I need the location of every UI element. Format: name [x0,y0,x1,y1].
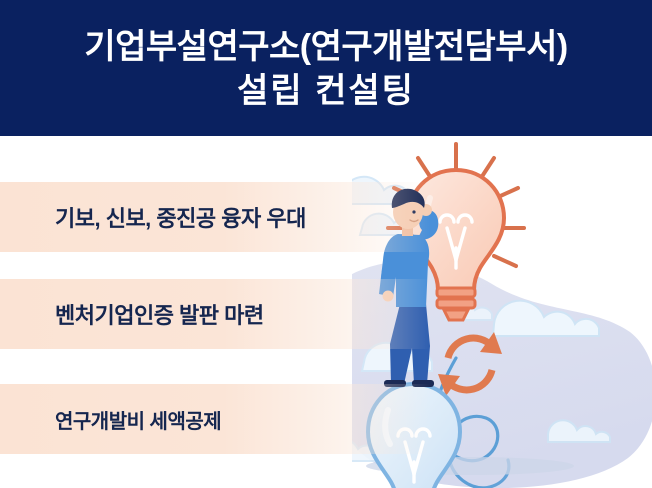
benefit-band-3: 연구개발비 세액공제 [0,384,430,454]
poster-root: 기업부설연구소(연구개발전담부서) 설립 컨설팅 [0,0,652,488]
benefit-label-2: 벤처기업인증 발판 마련 [55,298,264,330]
benefit-band-1: 기보, 신보, 중진공 융자 우대 [0,182,430,252]
benefit-label-3: 연구개발비 세액공제 [55,405,221,434]
benefit-band-2: 벤처기업인증 발판 마련 [0,279,430,349]
page-title-line-1: 기업부설연구소(연구개발전담부서) [84,25,567,69]
page-title-line-2: 설립 컨설팅 [237,69,415,113]
header-banner: 기업부설연구소(연구개발전담부서) 설립 컨설팅 [0,0,652,136]
benefit-label-1: 기보, 신보, 중진공 융자 우대 [55,201,306,233]
